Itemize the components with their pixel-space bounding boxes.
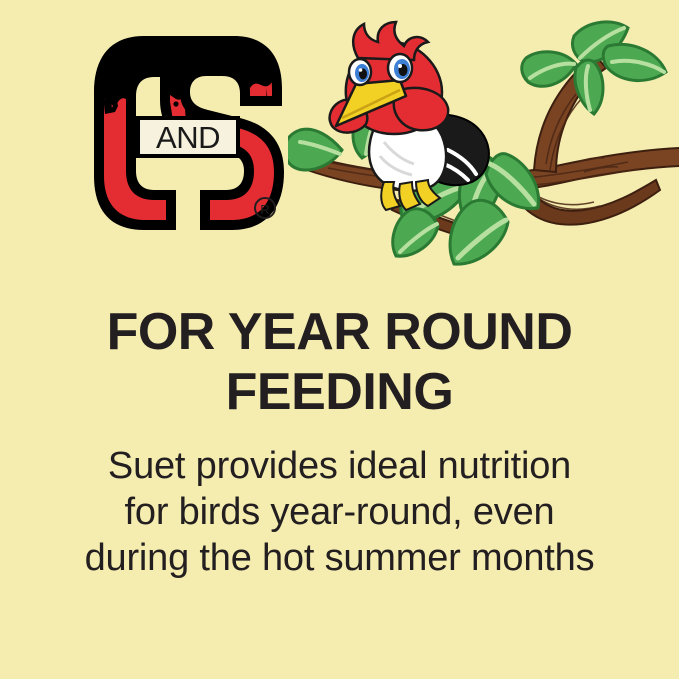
bird-eye-right — [388, 54, 412, 82]
logo-and-box: AND — [136, 116, 240, 158]
product-feature-poster: AND R — [0, 0, 679, 679]
subcopy-line-1: Suet provides ideal nutrition — [0, 443, 679, 489]
subcopy-line-3: during the hot summer months — [0, 535, 679, 581]
description-text: Suet provides ideal nutrition for birds … — [0, 443, 679, 581]
leaf-cluster-top-right — [522, 22, 666, 114]
artwork-band: AND R — [0, 0, 679, 280]
bird-eye-left — [349, 59, 371, 85]
woodpecker-branch-illustration — [288, 14, 679, 269]
page-title: FOR YEAR ROUND FEEDING — [0, 302, 679, 422]
headline-line-2: FEEDING — [0, 362, 679, 422]
svg-text:R: R — [260, 202, 269, 217]
headline-line-1: FOR YEAR ROUND — [0, 302, 679, 362]
subcopy-line-2: for birds year-round, even — [0, 489, 679, 535]
brand-logo: AND R — [88, 30, 298, 235]
logo-and-text: AND — [156, 120, 220, 155]
